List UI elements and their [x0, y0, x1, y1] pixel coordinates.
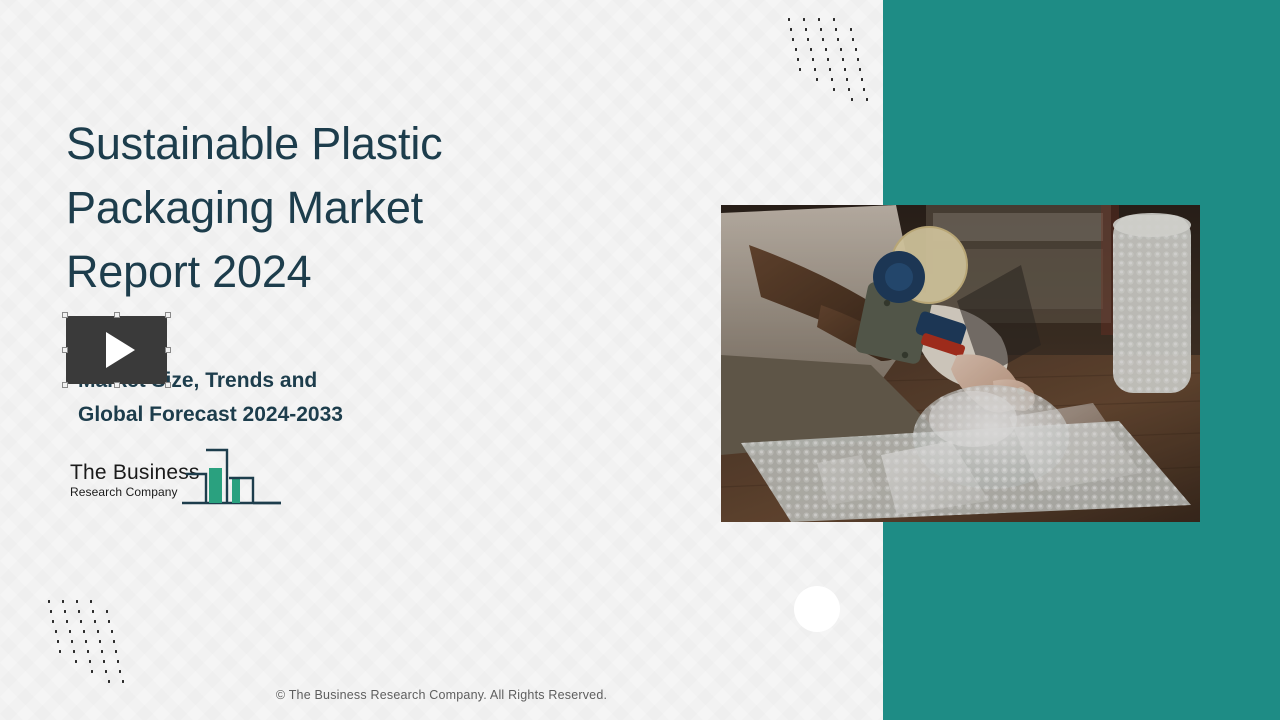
decorative-dot [810, 48, 812, 51]
video-play-overlay[interactable] [66, 316, 167, 384]
decorative-dot [64, 610, 66, 613]
decorative-dot [825, 48, 827, 51]
decorative-dot [846, 78, 848, 81]
decorative-dot [790, 28, 792, 31]
decorative-dot [83, 630, 85, 633]
decorative-dot [90, 600, 92, 603]
decorative-dot [71, 640, 73, 643]
decorative-dot [85, 640, 87, 643]
selection-handle-bottom-left[interactable] [62, 382, 68, 388]
decorative-dot [827, 58, 829, 61]
decorative-dot [89, 660, 91, 663]
decorative-dot [816, 78, 818, 81]
selection-handle-bottom-center[interactable] [114, 382, 120, 388]
play-button[interactable] [66, 316, 167, 384]
decorative-dot [833, 18, 835, 21]
decorative-dot [59, 650, 61, 653]
decorative-dot [844, 68, 846, 71]
play-icon [106, 332, 135, 368]
decorative-dot [66, 620, 68, 623]
decorative-dot [73, 650, 75, 653]
slide-canvas: Sustainable Plastic Packaging Market Rep… [0, 0, 1280, 720]
selection-handle-middle-left[interactable] [62, 347, 68, 353]
selection-handle-top-center[interactable] [114, 312, 120, 318]
decorative-dot [850, 28, 852, 31]
decorative-dot [92, 610, 94, 613]
decorative-dot [833, 88, 835, 91]
copyright-footer: © The Business Research Company. All Rig… [0, 688, 883, 702]
logo-bar-chart-icon [180, 446, 283, 508]
decorative-dot [792, 38, 794, 41]
decorative-dot [57, 640, 59, 643]
decorative-dot [851, 98, 853, 101]
decorative-dot [863, 88, 865, 91]
dot-pattern-bottom-left [48, 600, 110, 690]
circle-accent [794, 586, 840, 632]
decorative-dot [62, 600, 64, 603]
decorative-dot [820, 28, 822, 31]
decorative-dot [855, 48, 857, 51]
decorative-dot [108, 680, 110, 683]
decorative-dot [812, 58, 814, 61]
decorative-dot [87, 650, 89, 653]
decorative-dot [55, 630, 57, 633]
selection-handle-middle-right[interactable] [165, 347, 171, 353]
decorative-dot [115, 650, 117, 653]
decorative-dot [105, 670, 107, 673]
decorative-dot [94, 620, 96, 623]
decorative-dot [805, 28, 807, 31]
decorative-dot [50, 610, 52, 613]
hero-photo [721, 205, 1200, 522]
decorative-dot [119, 670, 121, 673]
decorative-dot [99, 640, 101, 643]
decorative-dot [840, 48, 842, 51]
selection-handle-top-left[interactable] [62, 312, 68, 318]
decorative-dot [852, 38, 854, 41]
decorative-dot [75, 660, 77, 663]
decorative-dot [831, 78, 833, 81]
decorative-dot [122, 680, 124, 683]
decorative-dot [797, 58, 799, 61]
decorative-dot [822, 38, 824, 41]
decorative-dot [117, 660, 119, 663]
decorative-dot [111, 630, 113, 633]
decorative-dot [788, 18, 790, 21]
decorative-dot [795, 48, 797, 51]
decorative-dot [807, 38, 809, 41]
page-title: Sustainable Plastic Packaging Market Rep… [66, 112, 536, 304]
decorative-dot [818, 18, 820, 21]
decorative-dot [861, 78, 863, 81]
decorative-dot [103, 660, 105, 663]
decorative-dot [106, 610, 108, 613]
decorative-dot [829, 68, 831, 71]
decorative-dot [76, 600, 78, 603]
decorative-dot [837, 38, 839, 41]
decorative-dot [108, 620, 110, 623]
decorative-dot [866, 98, 868, 101]
decorative-dot [69, 630, 71, 633]
decorative-dot [842, 58, 844, 61]
decorative-dot [803, 18, 805, 21]
decorative-dot [835, 28, 837, 31]
decorative-dot [113, 640, 115, 643]
decorative-dot [859, 68, 861, 71]
dot-pattern-top-right [788, 18, 858, 108]
selection-handle-top-right[interactable] [165, 312, 171, 318]
decorative-dot [97, 630, 99, 633]
decorative-dot [101, 650, 103, 653]
decorative-dot [52, 620, 54, 623]
decorative-dot [799, 68, 801, 71]
decorative-dot [78, 610, 80, 613]
decorative-dot [848, 88, 850, 91]
company-logo: The Business Research Company [68, 446, 283, 508]
selection-handle-bottom-right[interactable] [165, 382, 171, 388]
decorative-dot [80, 620, 82, 623]
decorative-dot [91, 670, 93, 673]
decorative-dot [857, 58, 859, 61]
decorative-dot [814, 68, 816, 71]
decorative-dot [48, 600, 50, 603]
